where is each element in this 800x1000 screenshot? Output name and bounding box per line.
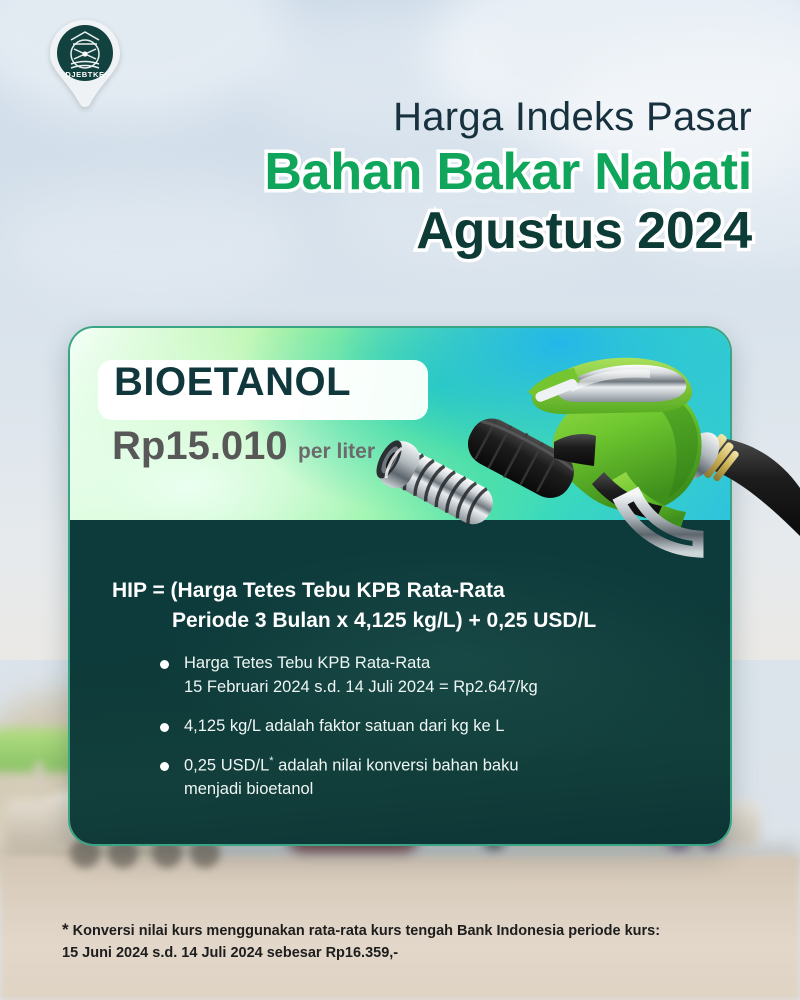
fuel-nozzle-icon bbox=[368, 330, 800, 570]
list-item: 4,125 kg/L adalah faktor satuan dari kg … bbox=[160, 715, 680, 739]
product-name: BIOETANOL bbox=[114, 360, 351, 405]
bullet-dot-icon bbox=[160, 660, 169, 669]
formula-line-1: HIP = (Harga Tetes Tebu KPB Rata-Rata bbox=[112, 579, 505, 602]
footnote-line-2: 15 Juni 2024 s.d. 14 Juli 2024 sebesar R… bbox=[62, 943, 782, 964]
title-subtitle: Harga Indeks Pasar bbox=[0, 96, 752, 139]
price-unit: per liter bbox=[298, 440, 375, 464]
price-value: Rp15.010 bbox=[112, 424, 288, 469]
footnote: * Konversi nilai kurs menggunakan rata-r… bbox=[62, 918, 782, 964]
bullet-2-line-1: 4,125 kg/L adalah faktor satuan dari kg … bbox=[184, 715, 680, 739]
bullet-1-line-2: 15 Februari 2024 s.d. 14 Juli 2024 = Rp2… bbox=[184, 676, 680, 700]
list-item: Harga Tetes Tebu KPB Rata-Rata 15 Februa… bbox=[160, 652, 680, 700]
title-period: Agustus 2024 bbox=[0, 202, 752, 260]
bullet-3-value: 0,25 USD/L bbox=[184, 756, 269, 774]
logo-wordmark: DJEBTKE bbox=[47, 70, 123, 79]
bullet-dot-icon bbox=[160, 723, 169, 732]
page-title: Harga Indeks Pasar Bahan Bakar Nabati Ag… bbox=[0, 96, 752, 261]
title-main: Bahan Bakar Nabati bbox=[0, 143, 752, 201]
bullet-3-rest: adalah nilai konversi bahan baku bbox=[274, 756, 519, 774]
bullet-dot-icon bbox=[160, 762, 169, 771]
list-item: 0,25 USD/L* adalah nilai konversi bahan … bbox=[160, 754, 680, 802]
footnote-line-1: Konversi nilai kurs menggunakan rata-rat… bbox=[73, 923, 660, 939]
bullet-3-line-2: menjadi bioetanol bbox=[184, 778, 680, 802]
formula-line-2: Periode 3 Bulan x 4,125 kg/L) + 0,25 USD… bbox=[112, 606, 672, 636]
formula-notes-list: Harga Tetes Tebu KPB Rata-Rata 15 Februa… bbox=[160, 652, 680, 817]
bullet-1-line-1: Harga Tetes Tebu KPB Rata-Rata bbox=[184, 652, 680, 676]
footnote-star: * bbox=[62, 920, 69, 939]
hip-formula: HIP = (Harga Tetes Tebu KPB Rata-Rata Pe… bbox=[112, 576, 672, 636]
bullet-3-line-1: 0,25 USD/L* adalah nilai konversi bahan … bbox=[184, 754, 680, 778]
